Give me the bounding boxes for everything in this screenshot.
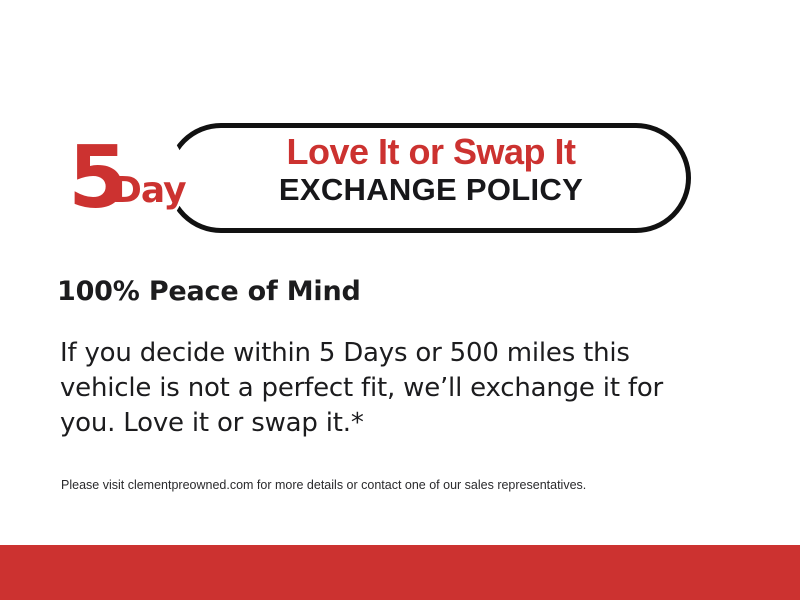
policy-body-text: If you decide within 5 Days or 500 miles… [60, 336, 678, 441]
exchange-policy-badge: 5 Day Love It or Swap It EXCHANGE POLICY [48, 103, 648, 253]
promo-canvas: 5 Day Love It or Swap It EXCHANGE POLICY… [0, 0, 800, 600]
badge-unit: Day [112, 173, 186, 209]
badge-subhead: EXCHANGE POLICY [196, 172, 666, 208]
peace-of-mind-heading: 100% Peace of Mind [57, 276, 361, 308]
badge-text-block: Love It or Swap It EXCHANGE POLICY [196, 131, 666, 208]
badge-headline: Love It or Swap It [196, 131, 666, 172]
footer-red-bar [0, 545, 800, 600]
fine-print-text: Please visit clementpreowned.com for mor… [61, 477, 761, 494]
five-day-mark: 5 Day [60, 115, 186, 241]
